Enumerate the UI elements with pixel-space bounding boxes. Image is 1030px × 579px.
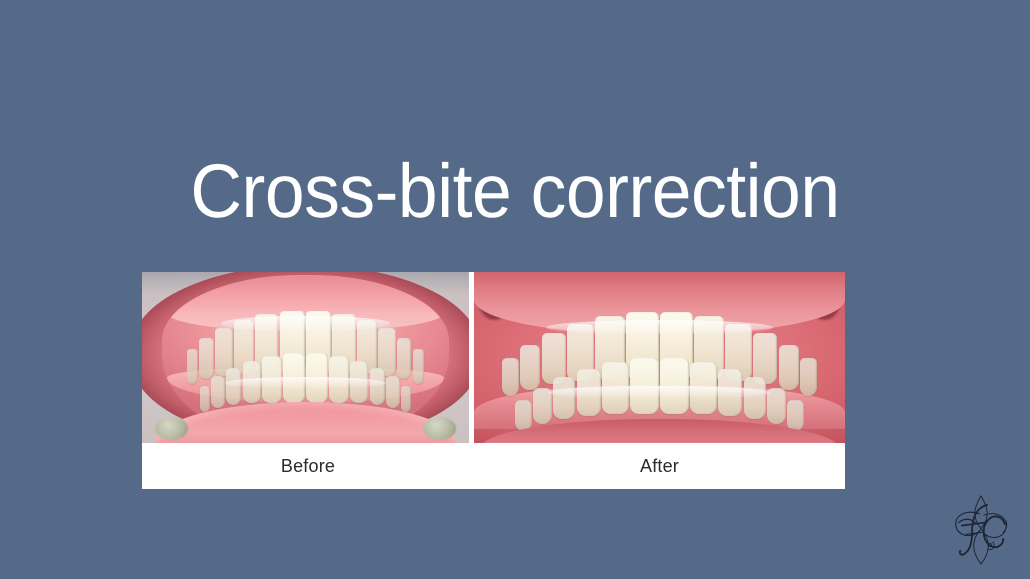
tooth bbox=[515, 400, 531, 431]
before-retractor-left bbox=[155, 417, 188, 439]
tooth bbox=[690, 362, 717, 414]
tooth bbox=[533, 388, 552, 425]
tooth bbox=[553, 377, 575, 419]
tooth bbox=[660, 358, 689, 413]
title-line-1: Cross-bite correction bbox=[31, 148, 999, 236]
monogram-logo bbox=[944, 493, 1018, 567]
photo-row bbox=[142, 272, 845, 443]
tooth bbox=[329, 356, 349, 403]
caption-before: Before bbox=[142, 443, 474, 489]
slide-canvas: Cross-bite correction and treatment bbox=[0, 0, 1030, 579]
tooth bbox=[262, 356, 282, 403]
tooth bbox=[767, 388, 786, 425]
tooth bbox=[401, 386, 412, 413]
after-lower-arch bbox=[496, 358, 822, 420]
tooth bbox=[243, 361, 261, 403]
before-retractor-right bbox=[423, 417, 456, 439]
tooth bbox=[283, 353, 305, 403]
tooth bbox=[226, 368, 242, 405]
tooth bbox=[630, 358, 659, 413]
before-photo bbox=[142, 272, 469, 443]
tooth bbox=[350, 361, 368, 403]
tooth bbox=[370, 368, 386, 405]
before-lower-arch bbox=[188, 353, 424, 409]
tooth bbox=[200, 386, 211, 413]
monogram-logo-icon bbox=[944, 493, 1018, 567]
tooth bbox=[386, 376, 399, 408]
tooth bbox=[744, 377, 766, 419]
tooth bbox=[211, 376, 224, 408]
tooth bbox=[602, 362, 629, 414]
after-photo bbox=[474, 272, 845, 443]
tooth bbox=[577, 369, 602, 416]
caption-bar: Before After bbox=[142, 443, 845, 489]
before-after-comparison-panel: Before After bbox=[142, 272, 845, 489]
tooth bbox=[787, 400, 803, 431]
tooth bbox=[306, 353, 328, 403]
tooth bbox=[718, 369, 743, 416]
caption-after: After bbox=[474, 443, 845, 489]
